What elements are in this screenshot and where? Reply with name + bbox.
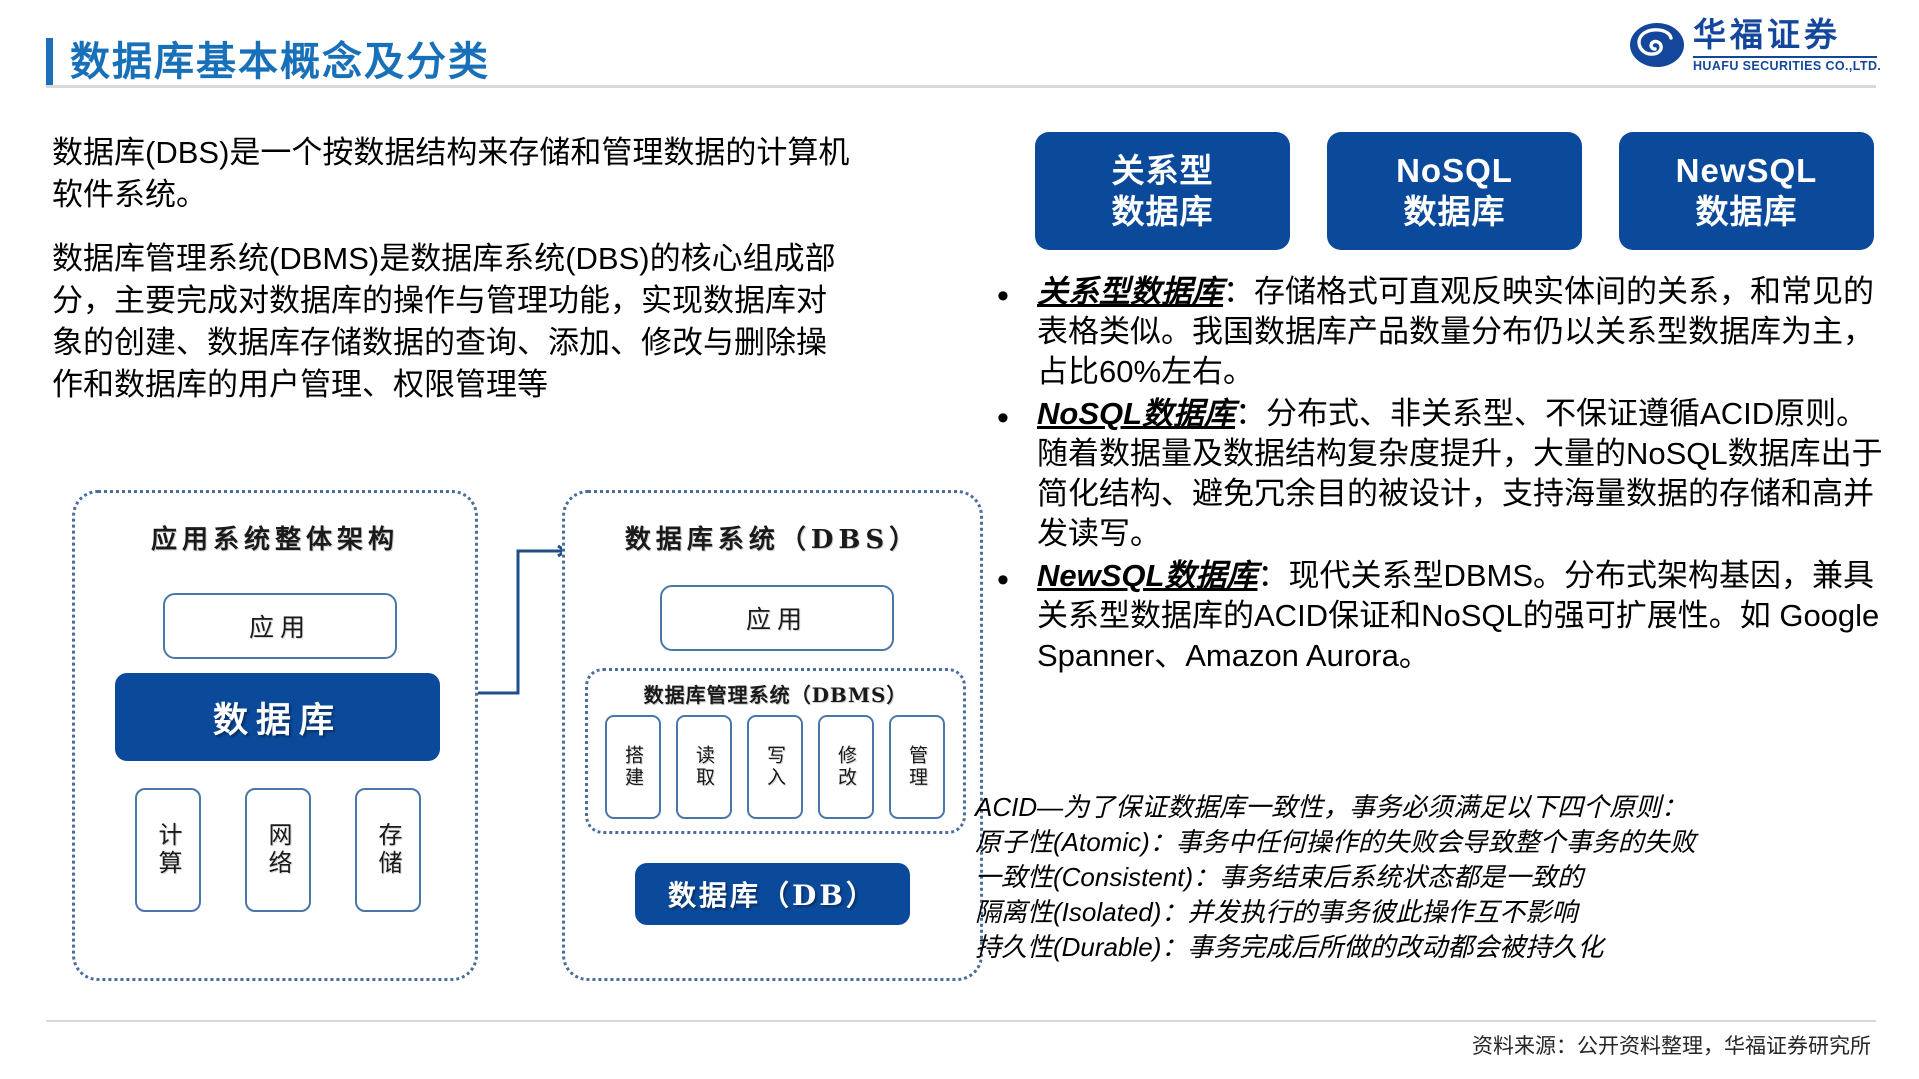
app-arch-database-box: 数据库	[115, 673, 440, 761]
spiral-swirl-logo-icon	[1629, 20, 1685, 70]
architecture-diagram: 应用系统整体架构 应用 数据库 计算 网络 存储 数据库系统（DBS） 应用 数…	[62, 485, 942, 995]
company-logo: 华福证券 HUAFU SECURITIES CO.,LTD.	[1629, 16, 1879, 76]
dbs-database-box: 数据库（DB）	[635, 863, 910, 925]
bullet-relational-text: 关系型数据库：存储格式可直观反映实体间的关系，和常见的表格类似。我国数据库产品数…	[1037, 272, 1885, 392]
acid-line-0: ACID—为了保证数据库一致性，事务必须满足以下四个原则：	[975, 790, 1885, 825]
bullet-nosql-text: NoSQL数据库：分布式、非关系型、不保证遵循ACID原则。随着数据量及数据结构…	[1037, 394, 1885, 554]
app-architecture-title: 应用系统整体架构	[75, 519, 475, 556]
card-relational-line2: 数据库	[1112, 191, 1214, 232]
footer-divider	[46, 1020, 1876, 1022]
left-text-block: 数据库(DBS)是一个按数据结构来存储和管理数据的计算机软件系统。 数据库管理系…	[52, 132, 852, 406]
title-accent-bar	[46, 38, 53, 86]
intro-paragraph-1: 数据库(DBS)是一个按数据结构来存储和管理数据的计算机软件系统。	[52, 132, 852, 216]
header-divider	[46, 85, 1876, 88]
bullet-nosql: • NoSQL数据库：分布式、非关系型、不保证遵循ACID原则。随着数据量及数据…	[975, 394, 1885, 554]
db-category-cards: 关系型 数据库 NoSQL 数据库 NewSQL 数据库	[1035, 132, 1875, 252]
logo-english-name: HUAFU SECURITIES CO.,LTD.	[1693, 58, 1881, 74]
bullet-marker: •	[997, 562, 1009, 598]
acid-note-block: ACID—为了保证数据库一致性，事务必须满足以下四个原则： 原子性(Atomic…	[975, 790, 1885, 965]
bullet-marker: •	[997, 400, 1009, 436]
app-arch-infra-storage: 存储	[355, 788, 421, 912]
app-arch-infra-compute: 计算	[135, 788, 201, 912]
acid-line-4: 持久性(Durable)：事务完成后所做的改动都会被持久化	[975, 930, 1885, 965]
acid-line-1: 原子性(Atomic)：事务中任何操作的失败会导致整个事务的失败	[975, 825, 1885, 860]
bullet-list: • 关系型数据库：存储格式可直观反映实体间的关系，和常见的表格类似。我国数据库产…	[975, 272, 1885, 678]
app-arch-application-box: 应用	[163, 593, 397, 659]
card-relational-db[interactable]: 关系型 数据库	[1035, 132, 1290, 250]
card-newsql-line2: 数据库	[1696, 191, 1798, 232]
dbms-op-manage: 管理	[889, 715, 945, 819]
dbms-op-modify: 修改	[818, 715, 874, 819]
card-newsql-line1: NewSQL	[1676, 150, 1818, 191]
source-note: 资料来源：公开资料整理，华福证券研究所	[1472, 1030, 1871, 1060]
dbs-title: 数据库系统（DBS）	[565, 519, 980, 556]
logo-chinese-name: 华福证券	[1693, 16, 1841, 54]
dbms-op-write: 写入	[747, 715, 803, 819]
card-nosql-db[interactable]: NoSQL 数据库	[1327, 132, 1582, 250]
bullet-relational-lead: 关系型数据库	[1037, 274, 1223, 309]
bullet-newsql-lead: NewSQL数据库	[1037, 558, 1257, 593]
app-architecture-box: 应用系统整体架构 应用 数据库 计算 网络 存储	[72, 490, 478, 981]
dbs-application-box: 应用	[660, 585, 894, 651]
bullet-newsql: • NewSQL数据库：现代关系型DBMS。分布式架构基因，兼具关系型数据库的A…	[975, 556, 1885, 676]
page-title: 数据库基本概念及分类	[70, 36, 490, 88]
intro-paragraph-2: 数据库管理系统(DBMS)是数据库系统(DBS)的核心组成部分，主要完成对数据库…	[52, 238, 852, 406]
bullet-relational: • 关系型数据库：存储格式可直观反映实体间的关系，和常见的表格类似。我国数据库产…	[975, 272, 1885, 392]
bullet-newsql-text: NewSQL数据库：现代关系型DBMS。分布式架构基因，兼具关系型数据库的ACI…	[1037, 556, 1885, 676]
app-arch-infra-network: 网络	[245, 788, 311, 912]
slide: 数据库基本概念及分类 华福证券 HUAFU SECURITIES CO.,LTD…	[0, 0, 1919, 1079]
bullet-nosql-lead: NoSQL数据库	[1037, 396, 1235, 431]
acid-line-3: 隔离性(Isolated)：并发执行的事务彼此操作互不影响	[975, 895, 1885, 930]
dbms-title: 数据库管理系统（DBMS）	[588, 679, 963, 708]
bullet-marker: •	[997, 278, 1009, 314]
dbms-op-build: 搭建	[605, 715, 661, 819]
acid-line-2: 一致性(Consistent)：事务结束后系统状态都是一致的	[975, 860, 1885, 895]
card-relational-line1: 关系型	[1112, 150, 1214, 191]
dbms-box: 数据库管理系统（DBMS） 搭建 读取 写入 修改 管理	[585, 668, 966, 834]
card-nosql-line2: 数据库	[1404, 191, 1506, 232]
dbms-op-read: 读取	[676, 715, 732, 819]
diagram-connector-line	[466, 543, 566, 743]
dbs-box: 数据库系统（DBS） 应用 数据库管理系统（DBMS） 搭建 读取 写入 修改 …	[562, 490, 983, 981]
card-nosql-line1: NoSQL	[1396, 150, 1513, 191]
card-newsql-db[interactable]: NewSQL 数据库	[1619, 132, 1874, 250]
